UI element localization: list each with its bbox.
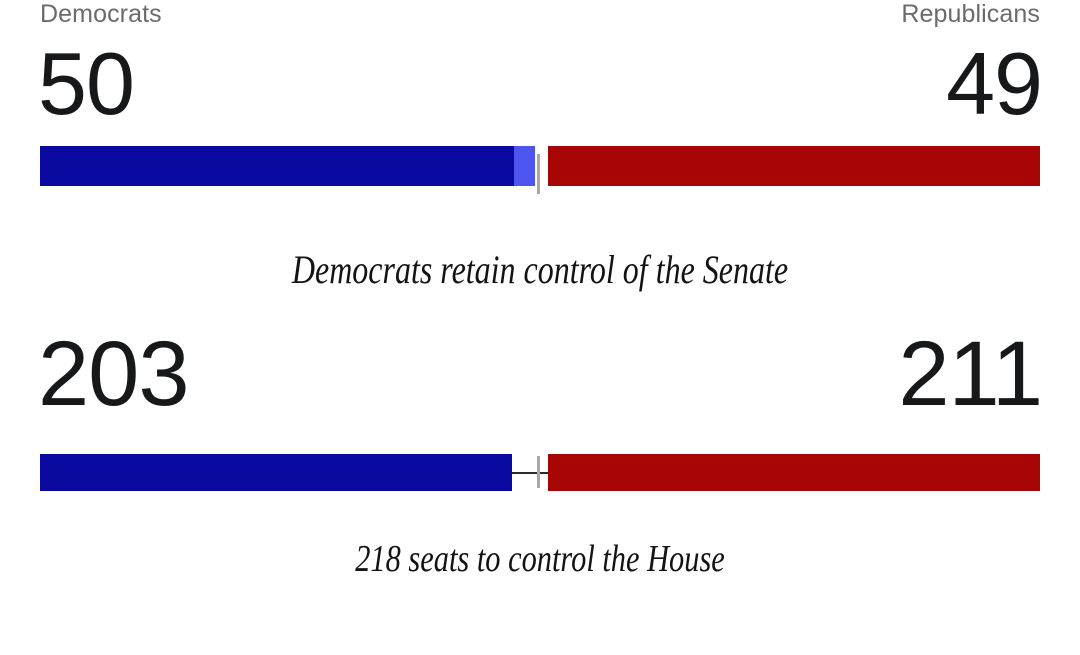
senate-seat-bar [40, 146, 1040, 186]
senate-democrat-label: Democrats [40, 0, 162, 28]
house-threshold-caption: 218 seats to control the House [108, 535, 972, 583]
house-chamber-panel: 203 211 218 seats to control the House [0, 300, 1080, 655]
house-seat-count-row: 203 211 [40, 326, 1040, 422]
balance-of-power-graphic: Democrats Republicans 50 49 Democrats re… [0, 0, 1080, 655]
senate-democrat-bar-segment [40, 146, 514, 186]
house-republican-seat-count: 211 [898, 326, 1042, 422]
senate-republican-bar-segment [548, 146, 1040, 186]
house-majority-threshold-tick [537, 456, 540, 488]
house-democrat-bar-segment [40, 454, 512, 491]
house-seat-bar [40, 454, 1040, 491]
senate-bar-container [40, 132, 1040, 188]
senate-seat-count-row: 50 49 [40, 36, 1040, 132]
house-threshold-connector-line [506, 472, 552, 474]
senate-party-label-row: Democrats Republicans [40, 0, 1040, 28]
senate-republican-seat-count: 49 [946, 36, 1042, 132]
senate-majority-threshold-tick [537, 154, 540, 194]
house-republican-bar-segment [548, 454, 1040, 491]
senate-republican-label: Republicans [901, 0, 1040, 28]
house-democrat-seat-count: 203 [38, 326, 189, 422]
senate-chamber-panel: Democrats Republicans 50 49 Democrats re… [0, 0, 1080, 300]
senate-democrat-caucus-bar-segment [514, 146, 535, 186]
senate-democrat-seat-count: 50 [38, 36, 134, 132]
senate-result-caption: Democrats retain control of the Senate [108, 246, 972, 294]
house-bar-container [40, 444, 1040, 500]
